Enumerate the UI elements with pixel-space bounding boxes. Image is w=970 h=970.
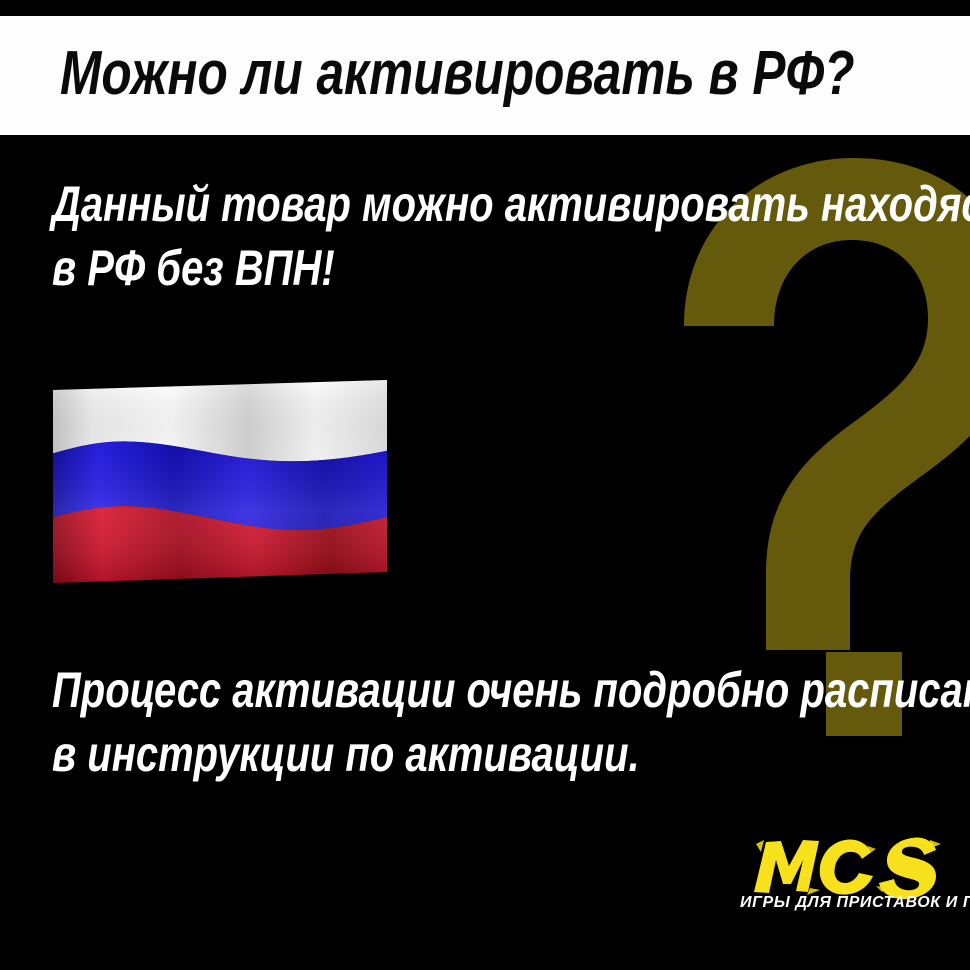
paragraph-bottom: Процесс активации очень подробно расписа…: [52, 658, 970, 786]
paragraph-top-line-2: в РФ без ВПН!: [52, 236, 970, 300]
paragraph-bottom-line-1: Процесс активации очень подробно расписа…: [52, 658, 970, 722]
paragraph-top: Данный товар можно активировать находясь…: [52, 172, 970, 300]
paragraph-bottom-line-2: в инструкции по активации.: [52, 722, 970, 786]
promo-card: Можно ли активировать в РФ? Данный товар…: [0, 0, 970, 970]
logo-tagline: ИГРЫ ДЛЯ ПРИСТАВОК И ПК: [740, 894, 955, 912]
page-title: Можно ли активировать в РФ?: [60, 36, 855, 112]
paragraph-top-line-1: Данный товар можно активировать находясь: [52, 172, 970, 236]
top-black-strip: [0, 0, 970, 16]
mcs-wordmark-icon: [740, 832, 955, 900]
russian-flag: [51, 380, 389, 583]
title-banner: Можно ли активировать в РФ?: [0, 16, 970, 135]
mcs-logo: ИГРЫ ДЛЯ ПРИСТАВОК И ПК: [740, 832, 955, 932]
